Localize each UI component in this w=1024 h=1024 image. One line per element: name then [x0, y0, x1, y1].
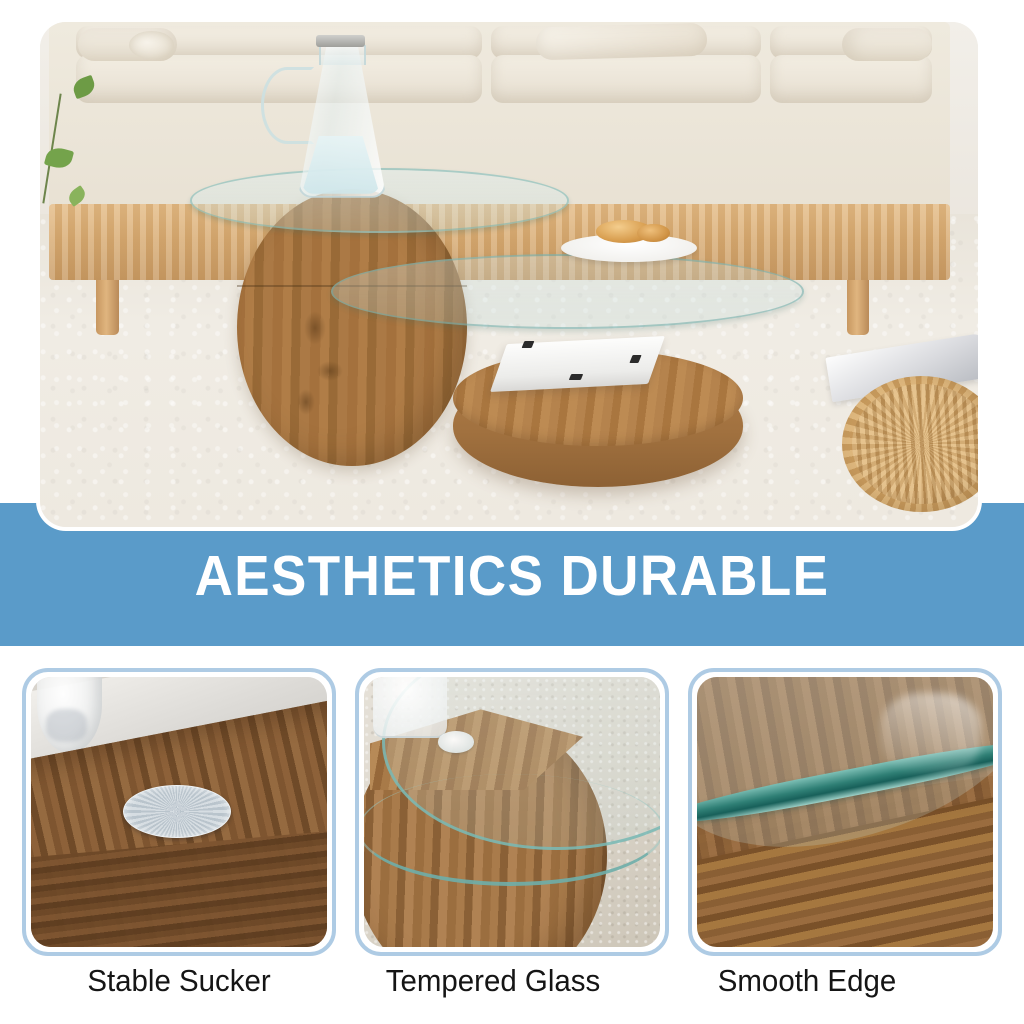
carafe-neck — [319, 45, 366, 65]
white-book — [490, 336, 665, 392]
suction-pad-icon — [123, 785, 232, 838]
feature-image-tempered-glass — [364, 677, 660, 947]
sofa-leg — [96, 280, 119, 336]
caption-smooth-edge: Smooth Edge — [658, 962, 956, 999]
feature-thumbnail-row — [0, 668, 1024, 960]
feature-caption-row: Stable Sucker Tempered Glass Smooth Edge — [0, 962, 1024, 999]
hero-scene — [40, 22, 978, 527]
feature-image-smooth-edge — [697, 677, 993, 947]
sofa-seat-cushion — [491, 55, 761, 102]
suction-pad-icon — [438, 731, 474, 753]
banner-title: AESTHETICS DURABLE — [36, 548, 988, 605]
wood-knot — [317, 361, 343, 381]
jar-shadow — [46, 709, 87, 741]
carafe-lid — [316, 35, 365, 47]
glass-edge-band — [364, 774, 660, 886]
feature-image-stable-sucker — [31, 677, 327, 947]
product-infographic-page: AESTHETICS DURABLE — [0, 0, 1024, 1024]
sofa-seat-cushion — [770, 55, 932, 102]
sofa-leg — [847, 280, 870, 336]
caption-tempered-glass: Tempered Glass — [344, 962, 642, 999]
bolster-pillow-left — [78, 28, 177, 61]
feature-card-tempered-glass — [355, 668, 669, 956]
hero-product-photo — [40, 22, 978, 527]
caption-stable-sucker: Stable Sucker — [30, 962, 328, 999]
feature-card-stable-sucker — [22, 668, 336, 956]
light-highlight — [881, 693, 982, 774]
throw-pillow — [535, 23, 707, 61]
glass-tier-lower — [331, 254, 804, 329]
feature-card-smooth-edge — [688, 668, 1002, 956]
wood-knot — [297, 389, 315, 415]
bolster-pillow-right — [842, 28, 932, 61]
carafe-handle — [261, 67, 314, 144]
wood-knot — [304, 311, 326, 345]
glass-jar — [373, 677, 447, 738]
